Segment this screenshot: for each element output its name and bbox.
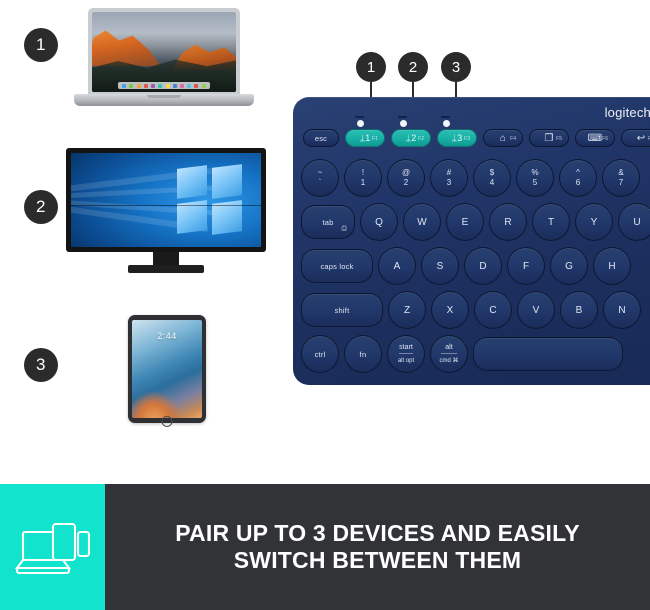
product-image: 1 2 3 [0,0,650,610]
key-label: fn [360,350,367,359]
device-badge-3: 3 [24,348,58,382]
keyboard-row-numbers: ~`!1@2#3$4%5^6&7 [301,159,640,197]
key-label-bottom: 2 [404,179,408,187]
key-s[interactable]: S [421,247,459,285]
key-b[interactable]: B [560,291,598,329]
key-sublabel: F2 [418,136,424,142]
key-a[interactable]: A [378,247,416,285]
key-label-bottom: 4 [490,179,494,187]
key-5[interactable]: %5 [516,159,554,197]
screen-seam [71,205,261,206]
key-3[interactable]: ᛦ3F3 [437,129,477,147]
key-caps-lock[interactable]: caps lock [301,249,373,283]
dock-icon [194,84,198,88]
key-label: shift [335,306,350,315]
key-labels: startalt opt [398,344,414,364]
keyboard-row-qwerty: tab⎙QWERTYU [301,203,650,241]
key-y[interactable]: Y [575,203,613,241]
key-sublabel: F6 [602,136,608,142]
key-labels: ~` [318,169,323,187]
key-esc[interactable]: esc [303,129,339,147]
key-label: esc [315,134,327,143]
key-app-switch[interactable]: ❐F5 [529,129,569,147]
key-label-top: alt [445,344,452,351]
keyboard: logitech escᛦ1F1ᛦ2F2ᛦ3F3⌂F4❐F5⌨F6↩F7 ~`!… [293,97,650,385]
monitor-neck [153,252,179,265]
key-label: C [489,305,496,316]
callout-number: 2 [398,52,428,82]
bluetooth-icon: ᛦ3 [452,133,463,143]
key-d[interactable]: D [464,247,502,285]
keyboard-row-shift: shiftZXCVBN [301,291,641,329]
key-label: W [417,217,426,228]
key-7[interactable]: &7 [602,159,640,197]
bluetooth-icon: ᛦ2 [406,133,417,143]
key-label: Z [404,305,410,316]
key-1[interactable]: !1 [344,159,382,197]
key-u[interactable]: U [618,203,650,241]
key-label: U [633,217,640,228]
device-badge-2: 2 [24,190,58,224]
key-3[interactable]: #3 [430,159,468,197]
key-f[interactable]: F [507,247,545,285]
tablet-lock-time: 2:44 [132,331,202,341]
key-r[interactable]: R [489,203,527,241]
windows-logo [177,166,242,232]
key-label-top: ! [362,169,364,177]
key-label-bottom: alt opt [398,358,414,364]
key-w[interactable]: W [403,203,441,241]
key-labels: altcmd ⌘ [439,344,458,364]
key-labels: $4 [490,169,494,187]
wallpaper-peak-left [92,30,161,67]
key-n[interactable]: N [603,291,641,329]
banner-line-2: SWITCH BETWEEN THEM [234,547,521,573]
key-labels: &7 [618,169,623,187]
key-t[interactable]: T [532,203,570,241]
key-label: A [394,261,401,272]
key-back-arrow[interactable]: ↩F7 [621,129,650,147]
key-labels: ^6 [576,169,580,187]
key-`[interactable]: ~` [301,159,339,197]
key-label: X [447,305,454,316]
key-labels: %5 [531,169,538,187]
callout-number: 1 [356,52,386,82]
key-q[interactable]: Q [360,203,398,241]
dock-icon [202,84,206,88]
monitor-image [66,148,266,273]
keyboard-row-bottom: ctrlfnstartalt optaltcmd ⌘ [301,335,623,373]
monitor-foot [128,265,204,273]
dock-icon [144,84,148,88]
feature-banner: PAIR UP TO 3 DEVICES AND EASILY SWITCH B… [0,484,650,610]
key-label-top: & [618,169,623,177]
keyboard-row-home: caps lockASDFGH [301,247,631,285]
dock-icon [129,84,133,88]
dock-icon [173,84,177,88]
key-tab[interactable]: tab⎙ [301,205,355,239]
banner-text: PAIR UP TO 3 DEVICES AND EASILY SWITCH B… [105,484,650,610]
key-6[interactable]: ^6 [559,159,597,197]
banner-line-1: PAIR UP TO 3 DEVICES AND EASILY [175,520,580,546]
dock-icon [187,84,191,88]
key-sublabel: F3 [464,136,470,142]
key-keyboard[interactable]: ⌨F6 [575,129,615,147]
laptop-notch [147,95,181,98]
logitech-logo: logitech [605,105,650,120]
print-screen-icon: ⎙ [341,225,347,233]
key-ctrl[interactable]: ctrl [301,335,339,373]
led-3 [443,120,450,127]
laptop-lid [88,8,240,96]
led-2 [400,120,407,127]
dock-icon [158,84,162,88]
dock-icon [166,84,170,88]
laptop-image [74,8,254,113]
key-shift[interactable]: shift [301,293,383,327]
key-label-bottom: 1 [361,179,365,187]
key-label: B [576,305,583,316]
key-label: tab [322,218,333,227]
device-badge-1: 1 [24,28,58,62]
key-space[interactable] [473,337,623,371]
key-start[interactable]: startalt opt [387,335,425,373]
key-labels: !1 [361,169,365,187]
callout-2: 2 [398,52,428,82]
dock-icon [151,84,155,88]
key-fn[interactable]: fn [344,335,382,373]
key-label: caps lock [320,262,353,271]
key-alt[interactable]: altcmd ⌘ [430,335,468,373]
key-label: S [437,261,444,272]
key-c[interactable]: C [474,291,512,329]
callout-1: 1 [356,52,386,82]
key-home[interactable]: ⌂F4 [483,129,523,147]
dock-icon [180,84,184,88]
key-label-bottom: 3 [447,179,451,187]
dock-icon [137,84,141,88]
tablet-home-button [162,416,173,427]
key-1[interactable]: ᛦ1F1 [345,129,385,147]
key-label: F [523,261,529,272]
key-label: Q [375,217,383,228]
key-4[interactable]: $4 [473,159,511,197]
key-sublabel: F5 [556,136,562,142]
key-label: T [548,217,554,228]
callout-number: 3 [441,52,471,82]
key-e[interactable]: E [446,203,484,241]
key-label-top: ~ [318,169,323,177]
dock-icon [122,84,126,88]
key-label: E [462,217,469,228]
key-label-bottom: cmd ⌘ [439,358,458,364]
key-label-bottom: ` [319,179,322,187]
tablet-screen: 2:44 [132,320,202,418]
key-sublabel: F4 [510,136,516,142]
macos-dock [118,82,210,89]
key-label: N [618,305,625,316]
laptop-screen [92,12,236,92]
key-label: R [504,217,511,228]
key-label-top: % [531,169,538,177]
keyboard-row-function: escᛦ1F1ᛦ2F2ᛦ3F3⌂F4❐F5⌨F6↩F7 [303,129,650,147]
key-label-top: start [399,344,413,351]
keyboard-icon: ⌨ [588,133,603,144]
key-label-bottom: 7 [619,179,623,187]
key-2[interactable]: ᛦ2F2 [391,129,431,147]
monitor-bezel [66,148,266,252]
key-label: Y [591,217,598,228]
monitor-screen [71,153,261,247]
home-icon: ⌂ [500,133,506,144]
devices-icon [15,516,91,578]
bluetooth-icon: ᛦ1 [360,133,371,143]
app-switch-icon: ❐ [544,133,553,144]
key-label: G [565,261,573,272]
key-label: H [608,261,615,272]
led-1 [357,120,364,127]
key-2[interactable]: @2 [387,159,425,197]
back-arrow-icon: ↩ [637,133,646,144]
callout-3: 3 [441,52,471,82]
key-sublabel: F1 [372,136,378,142]
key-label: D [479,261,486,272]
key-label-bottom: 5 [533,179,537,187]
key-label: V [533,305,540,316]
key-labels: #3 [447,169,451,187]
key-labels: @2 [402,169,410,187]
key-label-top: ^ [576,169,580,177]
key-label-top: @ [402,169,410,177]
key-x[interactable]: X [431,291,469,329]
devices-icon-panel [0,484,105,610]
key-label: ctrl [315,350,326,359]
key-g[interactable]: G [550,247,588,285]
tablet-image: 2:44 [128,315,206,423]
key-label-top: # [447,169,451,177]
key-v[interactable]: V [517,291,555,329]
key-h[interactable]: H [593,247,631,285]
key-z[interactable]: Z [388,291,426,329]
key-label-top: $ [490,169,494,177]
key-label-bottom: 6 [576,179,580,187]
